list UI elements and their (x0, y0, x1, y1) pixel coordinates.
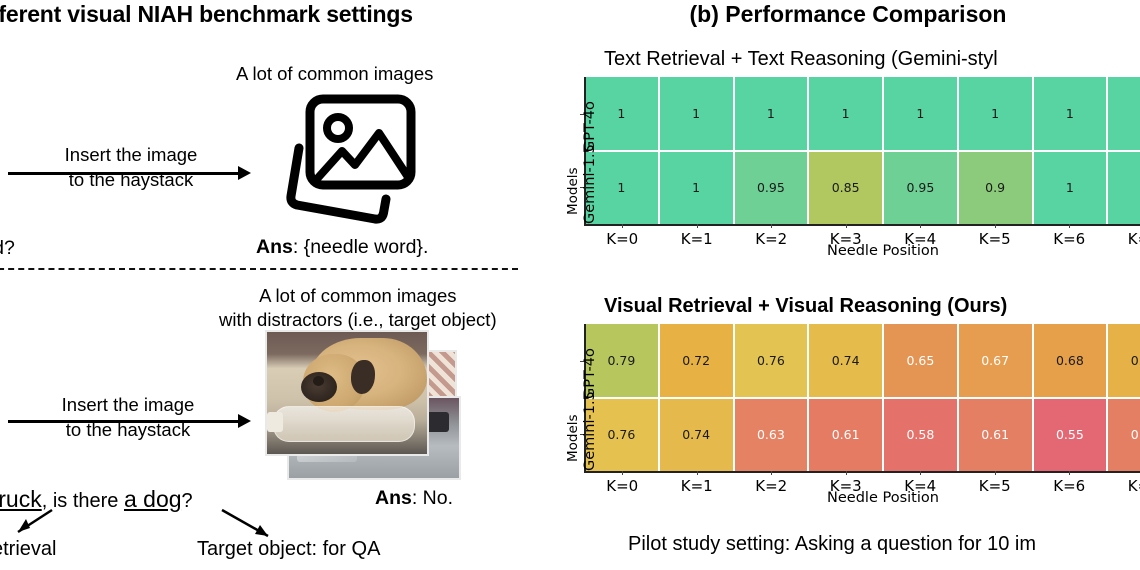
panel-a-visual-niah-settings: ween different visual NIAH benchmark set… (0, 0, 556, 570)
panel-b-title: (b) Performance Comparison (556, 1, 1140, 28)
answer-text-2: : No. (412, 487, 453, 509)
question-underline-dog: a dog (124, 486, 182, 512)
heatmap-1-cell-r0-c2: 1 (735, 77, 808, 150)
panel-divider-dashed (0, 268, 518, 270)
bottle-cap (267, 412, 283, 432)
heatmap-2-cell-r1-c4: 0.58 (884, 399, 957, 472)
heatmap-1-cell-r0-c7: 1 (1108, 77, 1140, 150)
heatmap-2-cell-r0-c1: 0.72 (660, 324, 733, 397)
heatmap-1-grid: 11111111110.950.850.950.911 (585, 77, 1140, 224)
arrow-label-line1: Insert the image (65, 144, 198, 165)
heatmap-2-cell-r1-c1: 0.74 (660, 399, 733, 472)
heatmap-1-cell-r1-c4: 0.95 (884, 152, 957, 225)
photo-stack-dog-image (265, 330, 465, 482)
heatmap-1-yrow-gemini: Gemini-1.5 (582, 144, 598, 224)
annotation-arrow-target-object (218, 508, 276, 542)
heatmap-1-cell-r0-c3: 1 (809, 77, 882, 150)
heatmap-2-cell-r0-c6: 0.68 (1034, 324, 1107, 397)
heatmap-1-cell-r1-c1: 1 (660, 152, 733, 225)
question-fragment-row1: et word? (0, 237, 15, 260)
heatmap-1-xtick-6 (1069, 224, 1070, 228)
heatmap-1-xlabel: Needle Position (585, 243, 1140, 259)
heatmap-2-cell-r0-c3: 0.74 (809, 324, 882, 397)
caption-line2: with distractors (i.e., target object) (219, 309, 497, 330)
panel-a-title: ween different visual NIAH benchmark set… (0, 1, 548, 28)
heatmap-2-xtick-1 (697, 471, 698, 475)
heatmap-1-cell-r0-c5: 1 (959, 77, 1032, 150)
label-target-object-for-qa: Target object: for QA (197, 538, 380, 561)
pilot-study-note: Pilot study setting: Asking a question f… (628, 533, 1036, 556)
heatmap-2-cell-r1-c6: 0.55 (1034, 399, 1107, 472)
heatmap-1-cell-r1-c6: 1 (1034, 152, 1107, 225)
caption-common-images: A lot of common images (236, 62, 433, 86)
heatmap-2-xtick-6 (1069, 471, 1070, 475)
heatmap-1-xtick-3 (846, 224, 847, 228)
heatmap-2-xtick-3 (846, 471, 847, 475)
annotation-arrow-retrieval (8, 508, 56, 538)
arrow-head-1 (238, 166, 251, 180)
heatmap-2-cell-r0-c7: 0.71 (1108, 324, 1140, 397)
heatmap-1-xtick-4 (920, 224, 921, 228)
caption-line1: A lot of common images (259, 285, 456, 306)
heatmap-1-cell-r0-c1: 1 (660, 77, 733, 150)
heatmap-1-xtick-0 (622, 224, 623, 228)
caption-common-images-with-distractors: A lot of common images with distractors … (219, 284, 497, 332)
answer-prefix-1: Ans (256, 236, 293, 258)
heatmap-1-xtick-1 (697, 224, 698, 228)
heatmap-1-x-axis (584, 224, 1140, 226)
question-post: ? (182, 490, 193, 512)
heatmap-2-ylabel: Models (565, 414, 581, 462)
arrow-head-2 (238, 414, 251, 428)
heatmap-1-cell-r1-c5: 0.9 (959, 152, 1032, 225)
heatmap-1-xtick-5 (995, 224, 996, 228)
answer-text-1: : {needle word}. (293, 236, 429, 258)
answer-prefix-2: Ans (375, 487, 412, 509)
heatmap-2-xtick-0 (622, 471, 623, 475)
heatmap-1-cell-r0-c6: 1 (1034, 77, 1107, 150)
heatmap-2-xtick-4 (920, 471, 921, 475)
answer-row2: Ans: No. (375, 487, 453, 510)
heatmap-1-ylabel: Models (565, 167, 581, 215)
heatmap-2-title: Visual Retrieval + Visual Reasoning (Our… (604, 295, 1140, 318)
heatmap-2-cell-r0-c4: 0.65 (884, 324, 957, 397)
heatmap-2-cell-r0-c2: 0.76 (735, 324, 808, 397)
arrow-shaft-2 (8, 420, 240, 423)
heatmap-2-x-axis (584, 471, 1140, 473)
photo-front-pug-dog (265, 330, 429, 456)
label-for-retrieval: or retrieval (0, 538, 56, 561)
plastic-bottle (273, 406, 415, 442)
arrow-label-line1: Insert the image (62, 394, 195, 415)
heatmap-2-cell-r1-c5: 0.61 (959, 399, 1032, 472)
answer-row1: Ans: {needle word}. (256, 236, 428, 259)
arrow-label-insert-image-1: Insert the image to the haystack (36, 142, 226, 192)
heatmap-2-xtick-2 (771, 471, 772, 475)
arrow-shaft-1 (8, 172, 240, 175)
heatmap-2-cell-r0-c5: 0.67 (959, 324, 1032, 397)
heatmap-1-cell-r0-c4: 1 (884, 77, 957, 150)
dog-eye (313, 376, 324, 386)
heatmap-1-cell-r1-c2: 0.95 (735, 152, 808, 225)
heatmap-1-xtick-2 (771, 224, 772, 228)
heatmap-2-grid: 0.790.720.760.740.650.670.680.710.760.74… (585, 324, 1140, 471)
heatmap-1-title: Text Retrieval + Text Reasoning (Gemini-… (604, 48, 1140, 71)
panel-b-performance-comparison: (b) Performance Comparison Text Retrieva… (556, 0, 1140, 570)
heatmap-2-yrow-gemini: Gemini-1.5 (582, 391, 598, 471)
heatmap-2-cell-r1-c3: 0.61 (809, 399, 882, 472)
image-placeholder-icon (283, 92, 433, 227)
heatmap-2-cell-r1-c2: 0.63 (735, 399, 808, 472)
heatmap-1-cell-r1-c3: 0.85 (809, 152, 882, 225)
heatmap-2-xlabel: Needle Position (585, 490, 1140, 506)
figure-root: ween different visual NIAH benchmark set… (0, 0, 1140, 570)
heatmap-1-cell-r1-c7: 1 (1108, 152, 1140, 225)
heatmap-2-cell-r1-c7: 0.61 (1108, 399, 1140, 472)
arrow-label-insert-image-2: Insert the image to the haystack (33, 392, 223, 442)
heatmap-2-xtick-5 (995, 471, 996, 475)
